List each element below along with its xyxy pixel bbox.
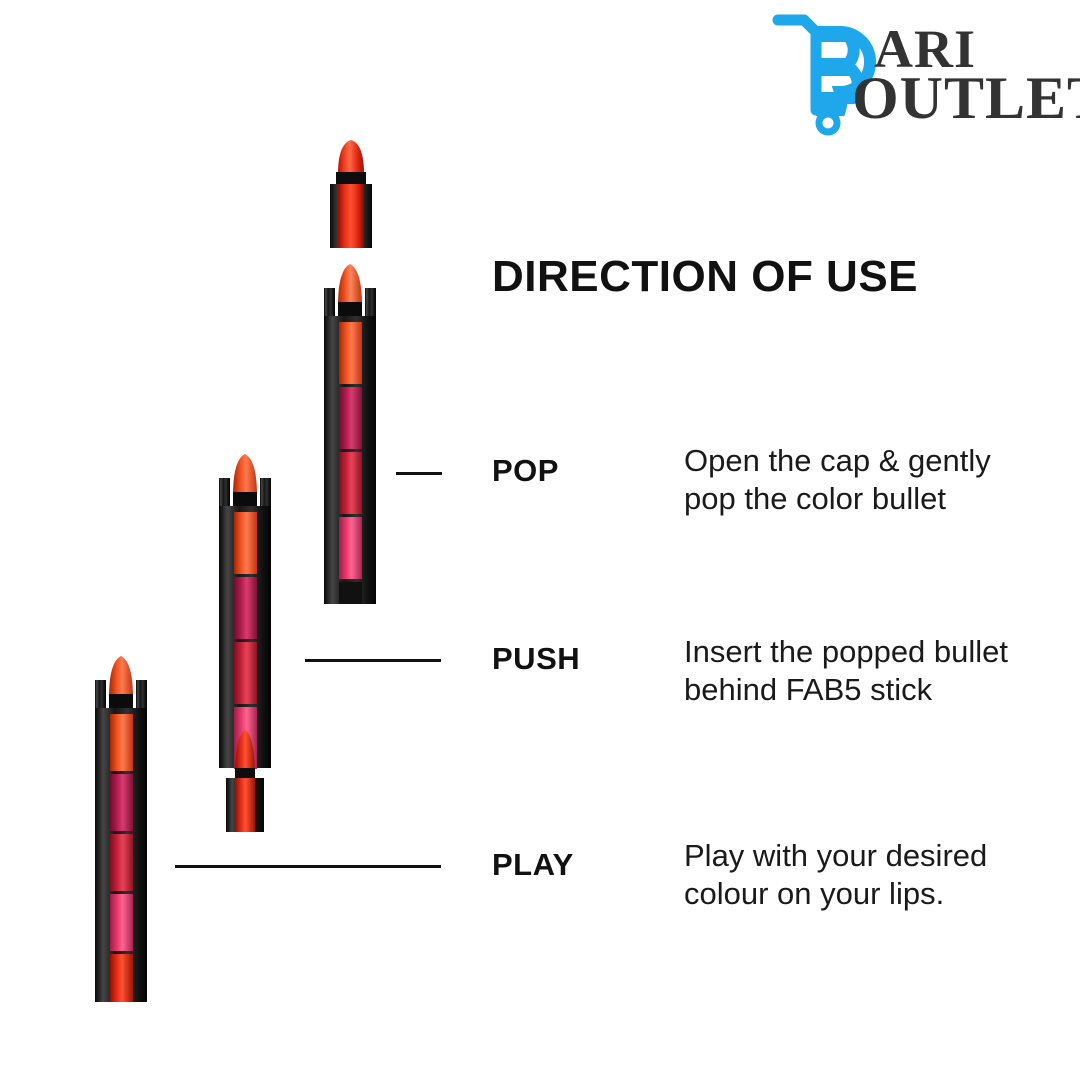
- step-label-push: PUSH: [492, 641, 580, 677]
- leader-line-pop: [396, 472, 442, 475]
- step-description-pop: Open the cap & gently pop the color bull…: [684, 442, 1029, 517]
- leader-line-push: [305, 659, 441, 662]
- page-title: DIRECTION OF USE: [492, 252, 918, 302]
- logo-text-outlet: OUTLET: [852, 68, 1080, 128]
- poster-canvas: ARI OUTLET DIRECTION OF USE: [0, 0, 1080, 1080]
- step-description-push: Insert the popped bullet behind FAB5 sti…: [684, 633, 1029, 708]
- leader-line-play: [175, 865, 441, 868]
- step-label-pop: POP: [492, 453, 559, 489]
- illustration-stick-complete: [82, 650, 160, 1006]
- illustration-stick-open-cap: [312, 258, 388, 610]
- brand-logo: ARI OUTLET: [770, 6, 1070, 136]
- illustration-popped-bullet: [318, 138, 384, 250]
- illustration-stick-inserting: [206, 448, 284, 836]
- step-label-play: PLAY: [492, 847, 574, 883]
- step-description-play: Play with your desired colour on your li…: [684, 837, 1029, 912]
